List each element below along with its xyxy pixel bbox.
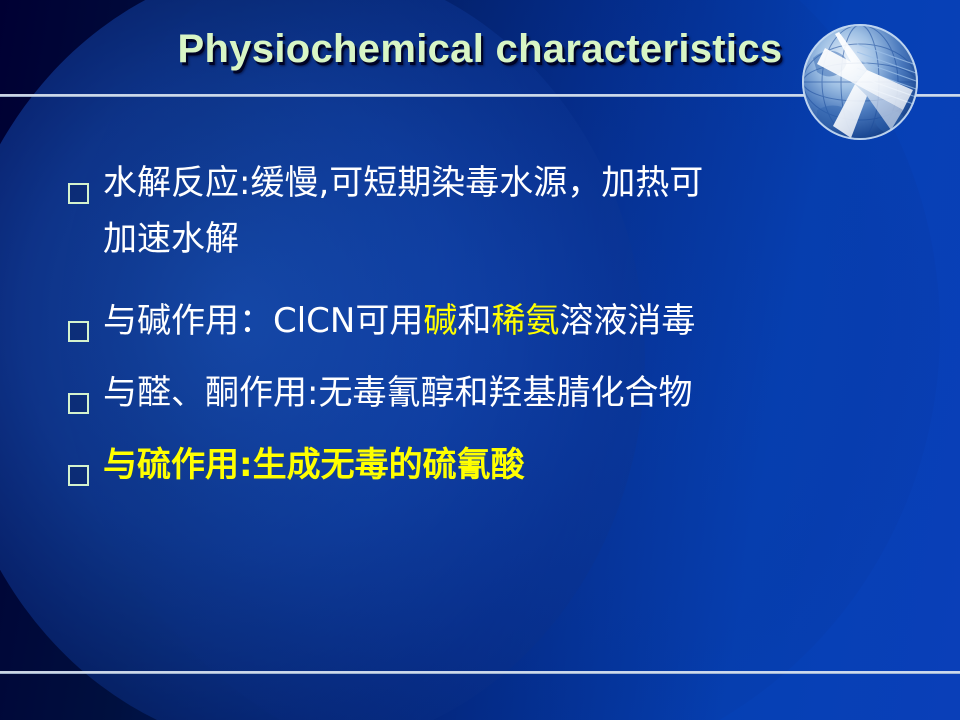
list-item-line-continuation: 加速水解	[103, 222, 960, 256]
text-segment: 与碱作用：ClCN可用	[103, 301, 423, 341]
list-item-line: 与醛、酮作用:无毒氰醇和羟基腈化合物	[103, 376, 960, 410]
text-segment: 和	[457, 301, 491, 341]
list-item-text: 水解反应:缓慢,可短期染毒水源，加热可 加速水解	[103, 166, 960, 256]
square-bullet-icon	[68, 465, 89, 486]
list-item-text: 与醛、酮作用:无毒氰醇和羟基腈化合物	[103, 376, 960, 410]
list-item-line: 水解反应:缓慢,可短期染毒水源，加热可	[103, 166, 960, 200]
list-item[interactable]: 与硫作用:生成无毒的硫氰酸	[0, 448, 960, 486]
list-item-text: 与碱作用：ClCN可用碱和稀氨溶液消毒	[103, 304, 960, 338]
square-bullet-icon	[68, 393, 89, 414]
list-item-line: 与碱作用：ClCN可用碱和稀氨溶液消毒	[103, 304, 960, 338]
globe-logo	[795, 18, 925, 148]
highlighted-text-segment: 稀氨	[491, 301, 559, 341]
highlighted-text-segment: 碱	[423, 301, 457, 341]
list-item-line: 与硫作用:生成无毒的硫氰酸	[103, 448, 960, 482]
list-item-text: 与硫作用:生成无毒的硫氰酸	[103, 448, 960, 482]
list-item[interactable]: 与碱作用：ClCN可用碱和稀氨溶液消毒	[0, 304, 960, 342]
text-segment: 溶液消毒	[559, 301, 695, 341]
list-item[interactable]: 与醛、酮作用:无毒氰醇和羟基腈化合物	[0, 376, 960, 414]
square-bullet-icon	[68, 321, 89, 342]
bullet-list: 水解反应:缓慢,可短期染毒水源，加热可 加速水解 与碱作用：ClCN可用碱和稀氨…	[0, 150, 960, 492]
slide-canvas: Physiochemical characteristics	[0, 0, 960, 720]
list-item[interactable]: 水解反应:缓慢,可短期染毒水源，加热可 加速水解	[0, 166, 960, 256]
footer-divider-line	[0, 671, 960, 674]
square-bullet-icon	[68, 183, 89, 204]
